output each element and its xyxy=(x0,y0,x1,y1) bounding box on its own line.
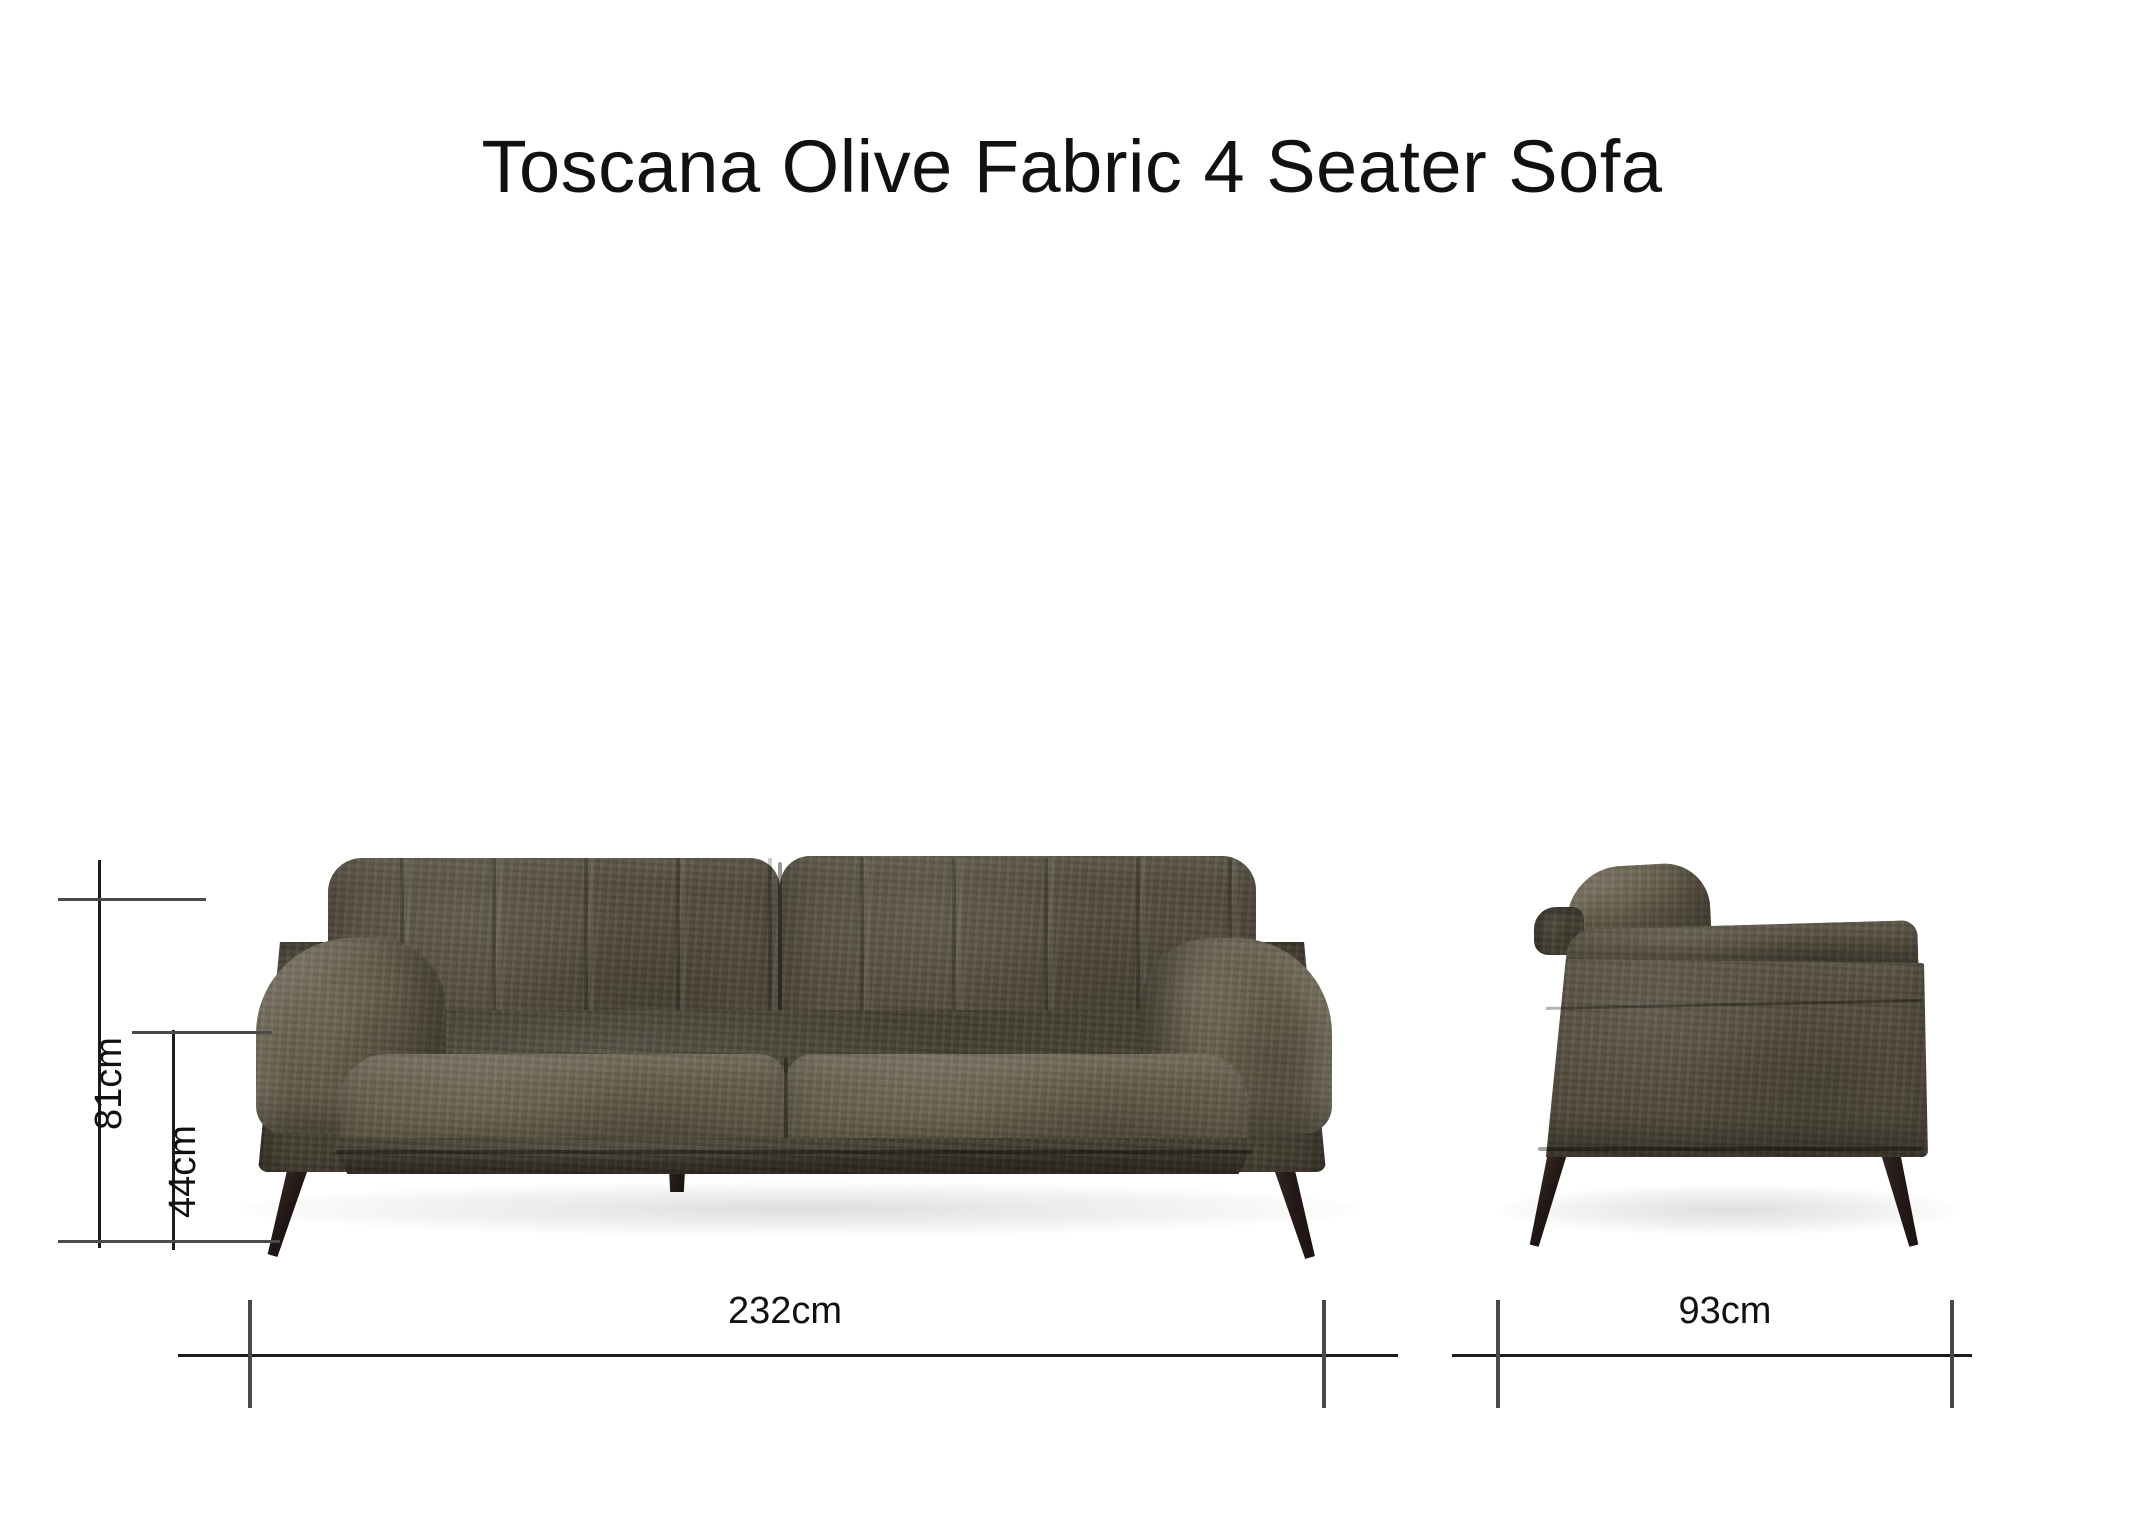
sofa-side-view xyxy=(1510,855,1950,1270)
sofa-base-apron xyxy=(298,1138,1288,1174)
dimension-label-81cm: 81cm xyxy=(88,1037,131,1130)
dimension-tick-232cm-right xyxy=(1322,1300,1326,1408)
product-dimension-diagram: Toscana Olive Fabric 4 Seater Sofa xyxy=(0,0,2144,1528)
dimension-tick-44cm-top xyxy=(132,1031,272,1034)
dimension-label-93cm: 93cm xyxy=(1600,1290,1850,1333)
dimension-label-44cm: 44cm xyxy=(162,1125,205,1218)
side-body-panel xyxy=(1530,959,1928,1157)
dimension-tick-232cm-left xyxy=(248,1300,252,1408)
dimension-tick-93cm-right xyxy=(1950,1300,1954,1408)
dimension-tick-93cm-left xyxy=(1496,1300,1500,1408)
dimension-line-232cm xyxy=(178,1354,1398,1357)
side-view-floor-shadow xyxy=(1500,1185,1960,1235)
sofa-front-view xyxy=(240,850,1360,1270)
dimension-label-232cm: 232cm xyxy=(660,1290,910,1333)
page-title: Toscana Olive Fabric 4 Seater Sofa xyxy=(0,130,2144,204)
dimension-tick-44cm-bottom xyxy=(132,1240,280,1243)
side-panel-bottom-welt xyxy=(1538,1147,1922,1151)
dimension-tick-81cm-top xyxy=(58,898,206,901)
seat-front-welt xyxy=(336,1150,1252,1154)
dimension-line-93cm xyxy=(1452,1354,1972,1357)
front-view-floor-shadow xyxy=(240,1182,1360,1236)
